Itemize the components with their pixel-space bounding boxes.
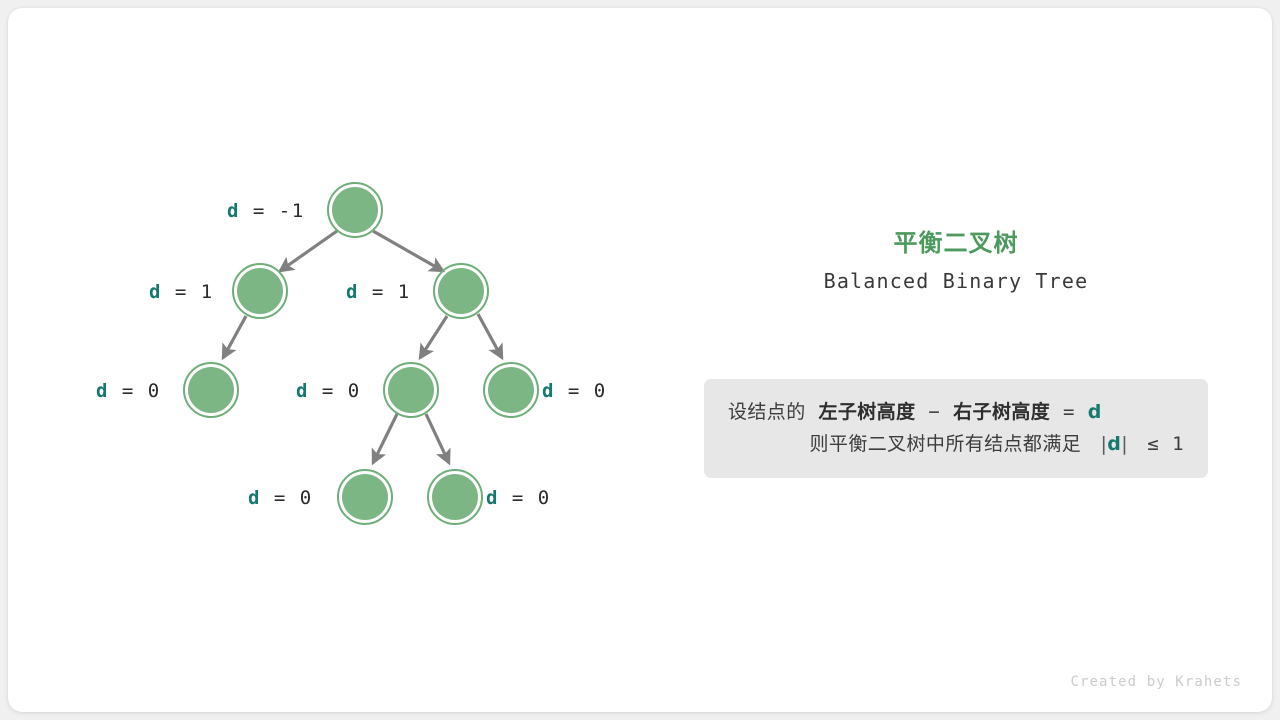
condition-var: d (1107, 433, 1121, 455)
node-label-n1-value: = -1 (253, 200, 305, 222)
tree-node-n8[interactable] (428, 470, 482, 524)
node-label-n5-var: d (296, 380, 309, 402)
tree-node-n5[interactable] (384, 363, 438, 417)
node-label-n8: d = 0 (486, 489, 551, 508)
node-label-n3: d = 1 (346, 283, 411, 302)
edge-n5-n8 (426, 414, 449, 463)
node-label-n3-value: = 1 (372, 281, 411, 303)
node-label-n4: d = 0 (96, 382, 161, 401)
tree-node-n6[interactable] (484, 363, 538, 417)
definition-equals: = (1063, 401, 1075, 423)
edge-n3-n5 (420, 316, 447, 358)
node-label-n2-var: d (149, 281, 162, 303)
tree-node-n1[interactable] (328, 183, 382, 237)
tree-edges (223, 231, 502, 463)
condition-prefix: 则平衡二叉树中所有结点都满足 (810, 433, 1082, 455)
edge-n2-n4 (223, 316, 246, 358)
panel-subtitle: Balanced Binary Tree (696, 269, 1216, 293)
definition-line-1: 设结点的 左子树高度 − 右子树高度 = d (728, 396, 1184, 428)
node-label-n6: d = 0 (542, 382, 607, 401)
edge-n1-n3 (373, 231, 443, 271)
node-label-n6-var: d (542, 380, 555, 402)
definition-result-var: d (1088, 401, 1102, 423)
node-label-n8-value: = 0 (512, 487, 551, 509)
definition-prefix: 设结点的 (728, 401, 806, 423)
node-label-n1: d = -1 (227, 202, 305, 221)
tree-diagram (8, 8, 1272, 712)
definition-term-right: 右子树高度 (953, 401, 1050, 423)
node-label-n1-var: d (227, 200, 240, 222)
definition-minus: − (928, 401, 940, 423)
diagram-canvas: d = -1 d = 1 d = 1 d = 0 d = 0 d = 0 d =… (8, 8, 1272, 712)
edge-n3-n6 (478, 314, 502, 358)
tree-node-n4[interactable] (184, 363, 238, 417)
definition-box: 设结点的 左子树高度 − 右子树高度 = d 则平衡二叉树中所有结点都满足 |d… (704, 379, 1208, 478)
node-label-n7: d = 0 (248, 489, 313, 508)
node-label-n8-var: d (486, 487, 499, 509)
info-panel: 平衡二叉树 Balanced Binary Tree (696, 228, 1216, 293)
node-label-n5: d = 0 (296, 382, 361, 401)
tree-node-n7[interactable] (338, 470, 392, 524)
tree-node-n3[interactable] (434, 264, 488, 318)
edge-n1-n2 (280, 231, 337, 271)
tree-nodes (184, 183, 538, 524)
node-label-n5-value: = 0 (322, 380, 361, 402)
condition-bound: 1 (1172, 433, 1184, 455)
node-label-n2: d = 1 (149, 283, 214, 302)
abs-bar-right: | (1121, 433, 1128, 455)
node-label-n7-var: d (248, 487, 261, 509)
panel-title: 平衡二叉树 (696, 228, 1216, 258)
definition-term-left: 左子树高度 (819, 401, 916, 423)
node-label-n4-var: d (96, 380, 109, 402)
condition-relation: ≤ (1147, 433, 1159, 455)
node-label-n3-var: d (346, 281, 359, 303)
edge-n5-n7 (373, 414, 397, 463)
node-label-n4-value: = 0 (122, 380, 161, 402)
node-label-n7-value: = 0 (274, 487, 313, 509)
node-label-n6-value: = 0 (568, 380, 607, 402)
credit-text: Created by Krahets (1070, 674, 1242, 690)
node-label-n2-value: = 1 (175, 281, 214, 303)
definition-line-2: 则平衡二叉树中所有结点都满足 |d| ≤ 1 (728, 428, 1184, 460)
tree-node-n2[interactable] (233, 264, 287, 318)
